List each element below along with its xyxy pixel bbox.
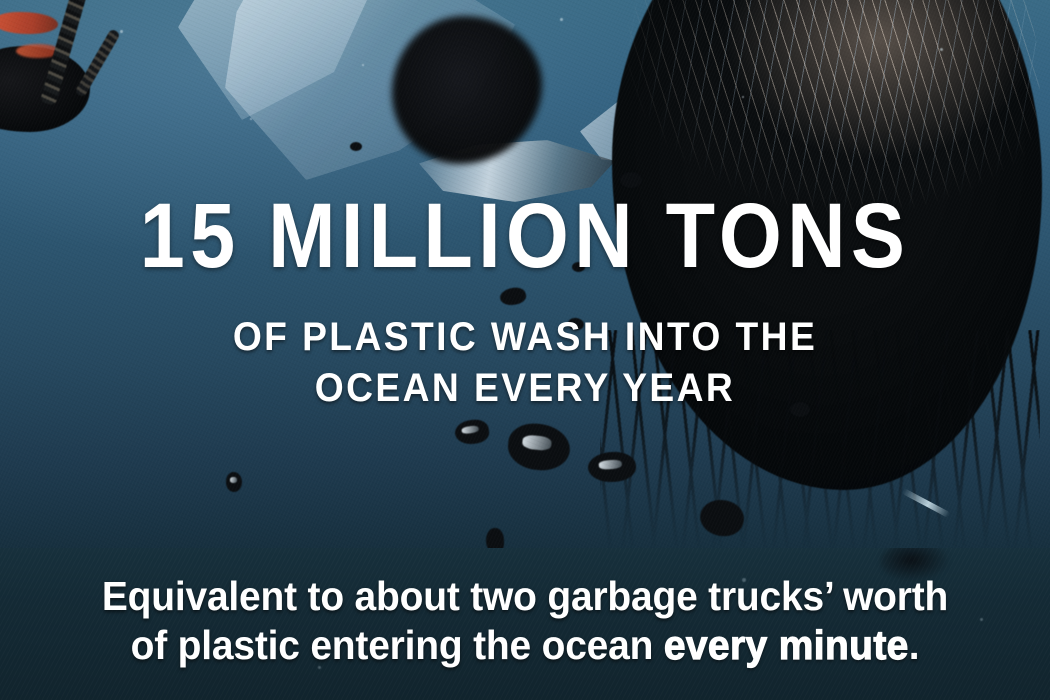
subheadline-line-2: OCEAN EVERY YEAR (37, 363, 1014, 414)
water-speck-1 (362, 64, 364, 66)
rope-strand-two (74, 28, 121, 98)
caption-line-2: of plastic entering the ocean every minu… (26, 621, 1024, 670)
subheadline: OF PLASTIC WASH INTO THE OCEAN EVERY YEA… (37, 312, 1014, 414)
blurred-debris-blob (392, 16, 542, 164)
water-speck-0 (120, 30, 123, 33)
caption-line-2-suffix: . (909, 622, 920, 668)
fragment-a (498, 285, 527, 308)
fragment-h (486, 528, 504, 548)
fragment-d (453, 418, 490, 446)
water-speck-5 (250, 118, 252, 120)
water-speck-3 (742, 96, 744, 98)
water-speck-2 (560, 18, 563, 21)
headline: 15 MILLION TONS (63, 190, 987, 282)
caption-emphasis: every minute (664, 622, 909, 668)
water-speck-4 (940, 48, 943, 51)
caption-line-2-prefix: of plastic entering the ocean (131, 622, 664, 668)
caption-line-1: Equivalent to about two garbage trucks’ … (26, 572, 1024, 621)
fragment-l (350, 142, 362, 151)
fragment-i (226, 472, 242, 492)
infographic-poster: 15 MILLION TONS OF PLASTIC WASH INTO THE… (0, 0, 1050, 700)
red-debris-upper (0, 12, 58, 34)
caption: Equivalent to about two garbage trucks’ … (26, 572, 1024, 670)
fragment-e (506, 421, 572, 473)
subheadline-line-1: OF PLASTIC WASH INTO THE (37, 312, 1014, 363)
